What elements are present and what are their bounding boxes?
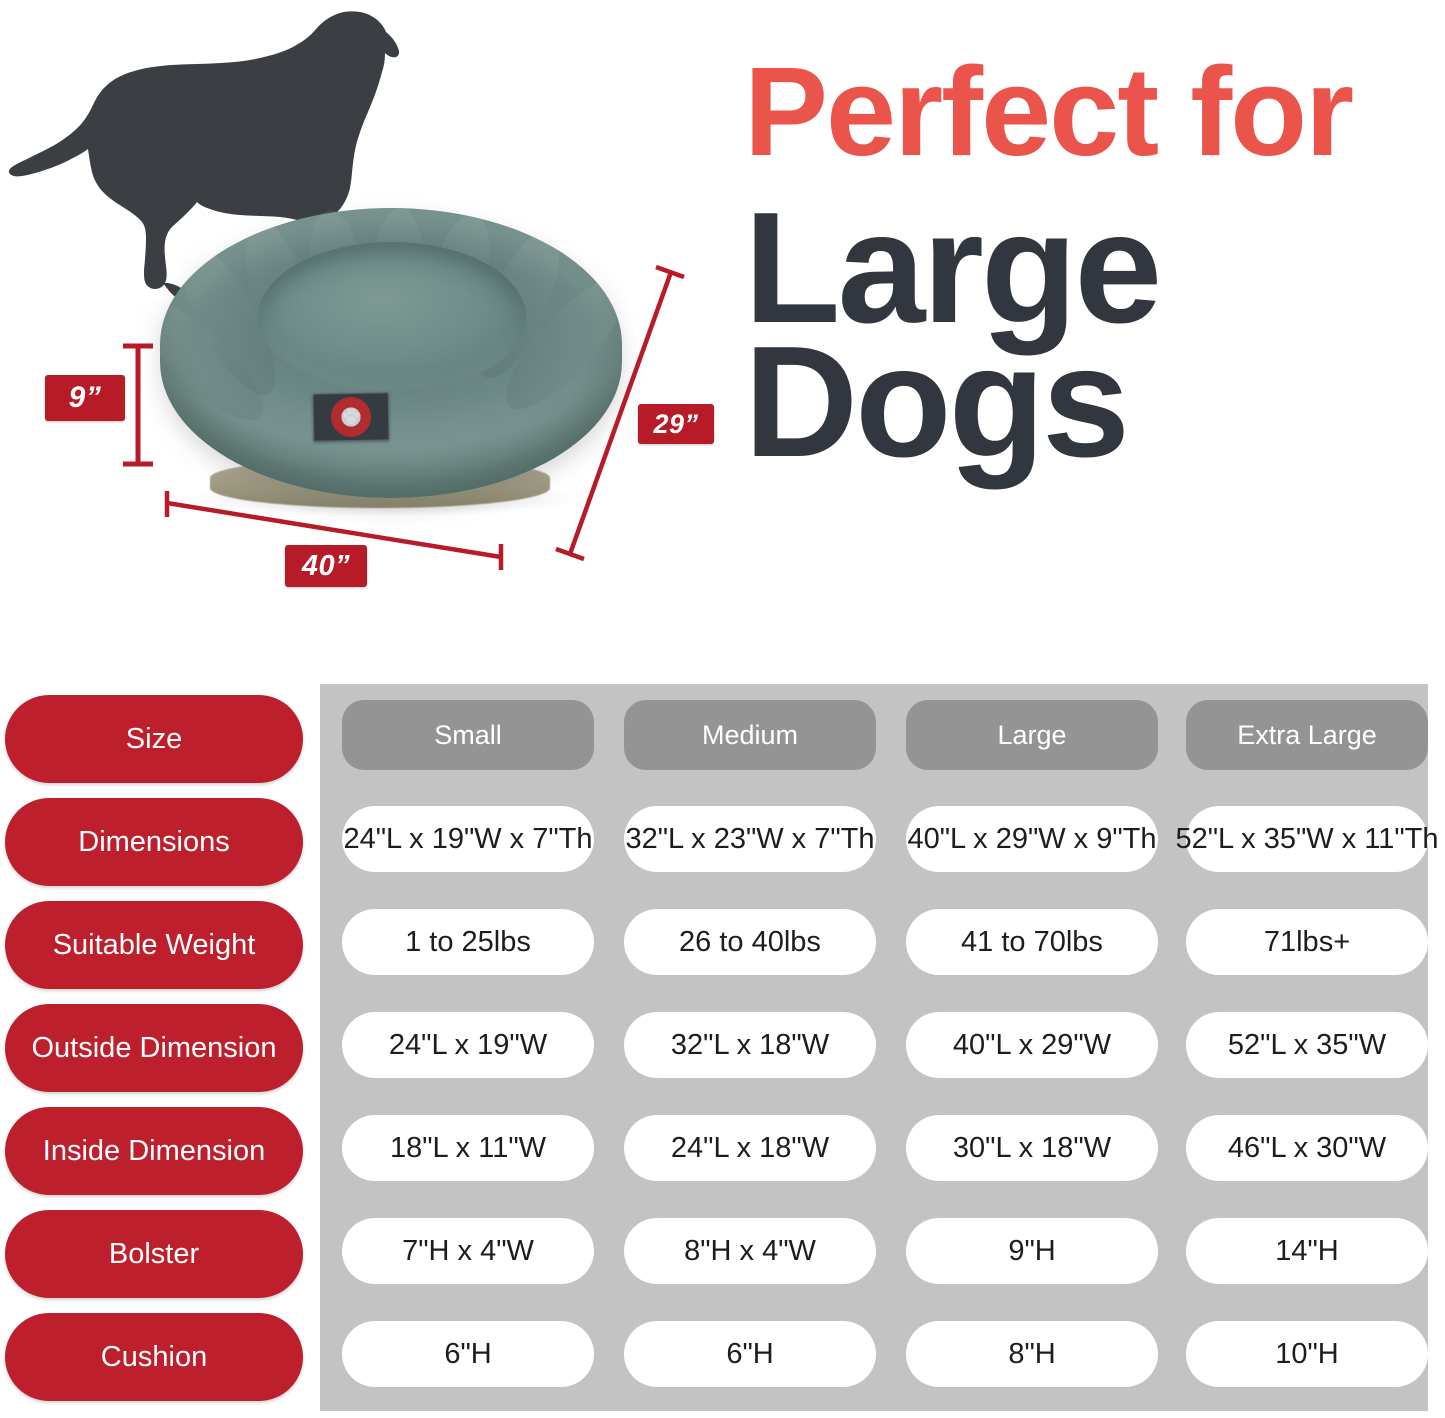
table-cell: 40"L x 29"W: [906, 1012, 1158, 1078]
table-cell: 10"H: [1186, 1321, 1428, 1387]
headline-line-3: Dogs: [744, 328, 1444, 477]
table-cell: 8"H x 4"W: [624, 1218, 876, 1284]
table-cell: 52"L x 35"W x 11"Th: [1186, 806, 1428, 872]
column-header-large: Large: [906, 700, 1158, 770]
column-header-small: Small: [342, 700, 594, 770]
column-header-medium: Medium: [624, 700, 876, 770]
headline-line-1: Perfect for: [744, 52, 1444, 172]
brand-tag-icon: [313, 392, 390, 441]
product-infographic: 9” 40” 29” Perfect for Large Dogs SizeDi…: [0, 0, 1445, 1418]
table-cell: 24"L x 19"W: [342, 1012, 594, 1078]
table-cell: 1 to 25lbs: [342, 909, 594, 975]
spec-table-section: SizeDimensionsSuitable WeightOutside Dim…: [0, 670, 1445, 1418]
table-cell: 7"H x 4"W: [342, 1218, 594, 1284]
bed-cushion: [258, 242, 526, 392]
table-cell: 26 to 40lbs: [624, 909, 876, 975]
table-cell: 24"L x 18"W: [624, 1115, 876, 1181]
depth-dimension-badge: 29”: [638, 404, 714, 444]
headline-block: Perfect for Large Dogs: [744, 52, 1444, 477]
table-cell: 8"H: [906, 1321, 1158, 1387]
table-cell: 6"H: [342, 1321, 594, 1387]
table-cell: 32"L x 23"W x 7"Th: [624, 806, 876, 872]
table-cell: 32"L x 18"W: [624, 1012, 876, 1078]
spec-grid: SmallMediumLargeExtra Large24"L x 19"W x…: [0, 670, 1445, 1418]
length-dimension-badge: 40”: [285, 545, 367, 587]
table-cell: 71lbs+: [1186, 909, 1428, 975]
table-cell: 9"H: [906, 1218, 1158, 1284]
table-cell: 6"H: [624, 1321, 876, 1387]
table-cell: 30"L x 18"W: [906, 1115, 1158, 1181]
table-cell: 52"L x 35"W: [1186, 1012, 1428, 1078]
table-cell: 41 to 70lbs: [906, 909, 1158, 975]
table-cell: 46"L x 30"W: [1186, 1115, 1428, 1181]
table-cell: 40"L x 29"W x 9"Th: [906, 806, 1158, 872]
table-cell: 18"L x 11"W: [342, 1115, 594, 1181]
height-dimension-badge: 9”: [45, 375, 125, 421]
table-cell: 14"H: [1186, 1218, 1428, 1284]
hero-section: 9” 40” 29” Perfect for Large Dogs: [0, 0, 1445, 670]
column-header-extra-large: Extra Large: [1186, 700, 1428, 770]
table-cell: 24"L x 19"W x 7"Th: [342, 806, 594, 872]
